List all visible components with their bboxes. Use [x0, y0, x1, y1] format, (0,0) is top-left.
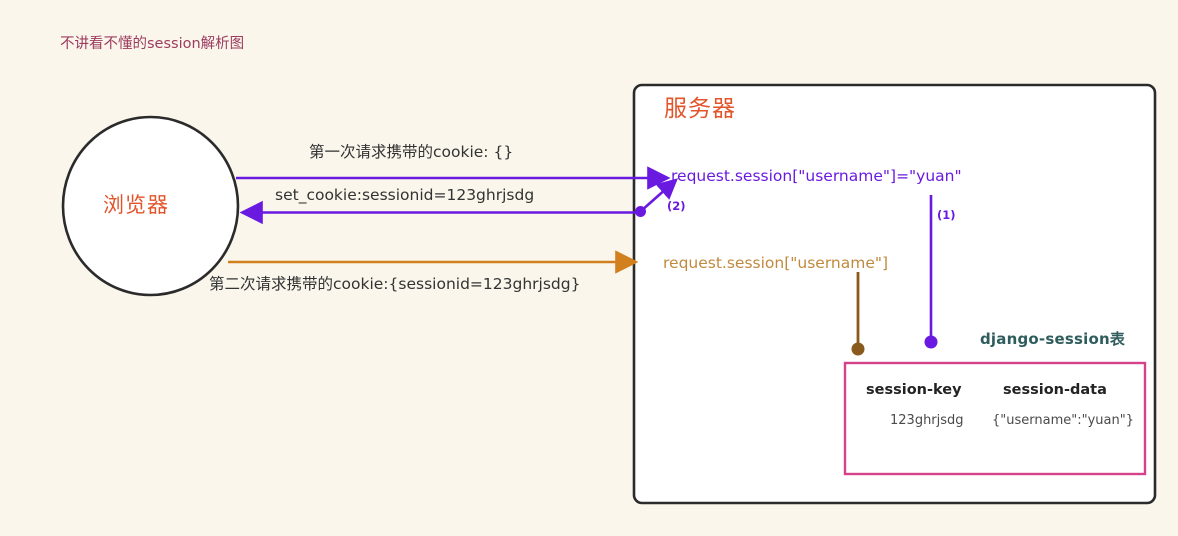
session-table-header-data: session-data: [1003, 382, 1107, 398]
set-cookie-arrow-label: set_cookie:sessionid=123ghrjsdg: [275, 187, 534, 205]
session-table-caption: django-session表: [980, 331, 1125, 348]
step1-endpoint-dot: [925, 336, 938, 349]
step-2-marker: (2): [667, 200, 686, 213]
first-request-arrow-label: 第一次请求携带的cookie: {}: [309, 144, 513, 162]
step2-origin-dot: [635, 206, 646, 217]
session-table-cell-data: {"username":"yuan"}: [992, 413, 1134, 428]
step-1-marker: (1): [937, 209, 956, 222]
second-request-arrow-label: 第二次请求携带的cookie:{sessionid=123ghrjsdg}: [209, 276, 580, 294]
diagram-vector-layer: [0, 0, 1178, 536]
session-get-expression: request.session["username"]: [663, 255, 888, 273]
session-read-endpoint-dot: [852, 343, 865, 356]
page-title: 不讲看不懂的session解析图: [60, 36, 244, 53]
browser-node-label: 浏览器: [103, 193, 169, 217]
session-table-cell-key: 123ghrjsdg: [890, 413, 964, 428]
session-set-expression: request.session["username"]="yuan": [671, 168, 962, 186]
session-table-header-key: session-key: [866, 382, 962, 398]
diagram-canvas: 不讲看不懂的session解析图 浏览器 服务器 第一次请求携带的cookie:…: [0, 0, 1178, 536]
server-node-label: 服务器: [664, 96, 736, 122]
